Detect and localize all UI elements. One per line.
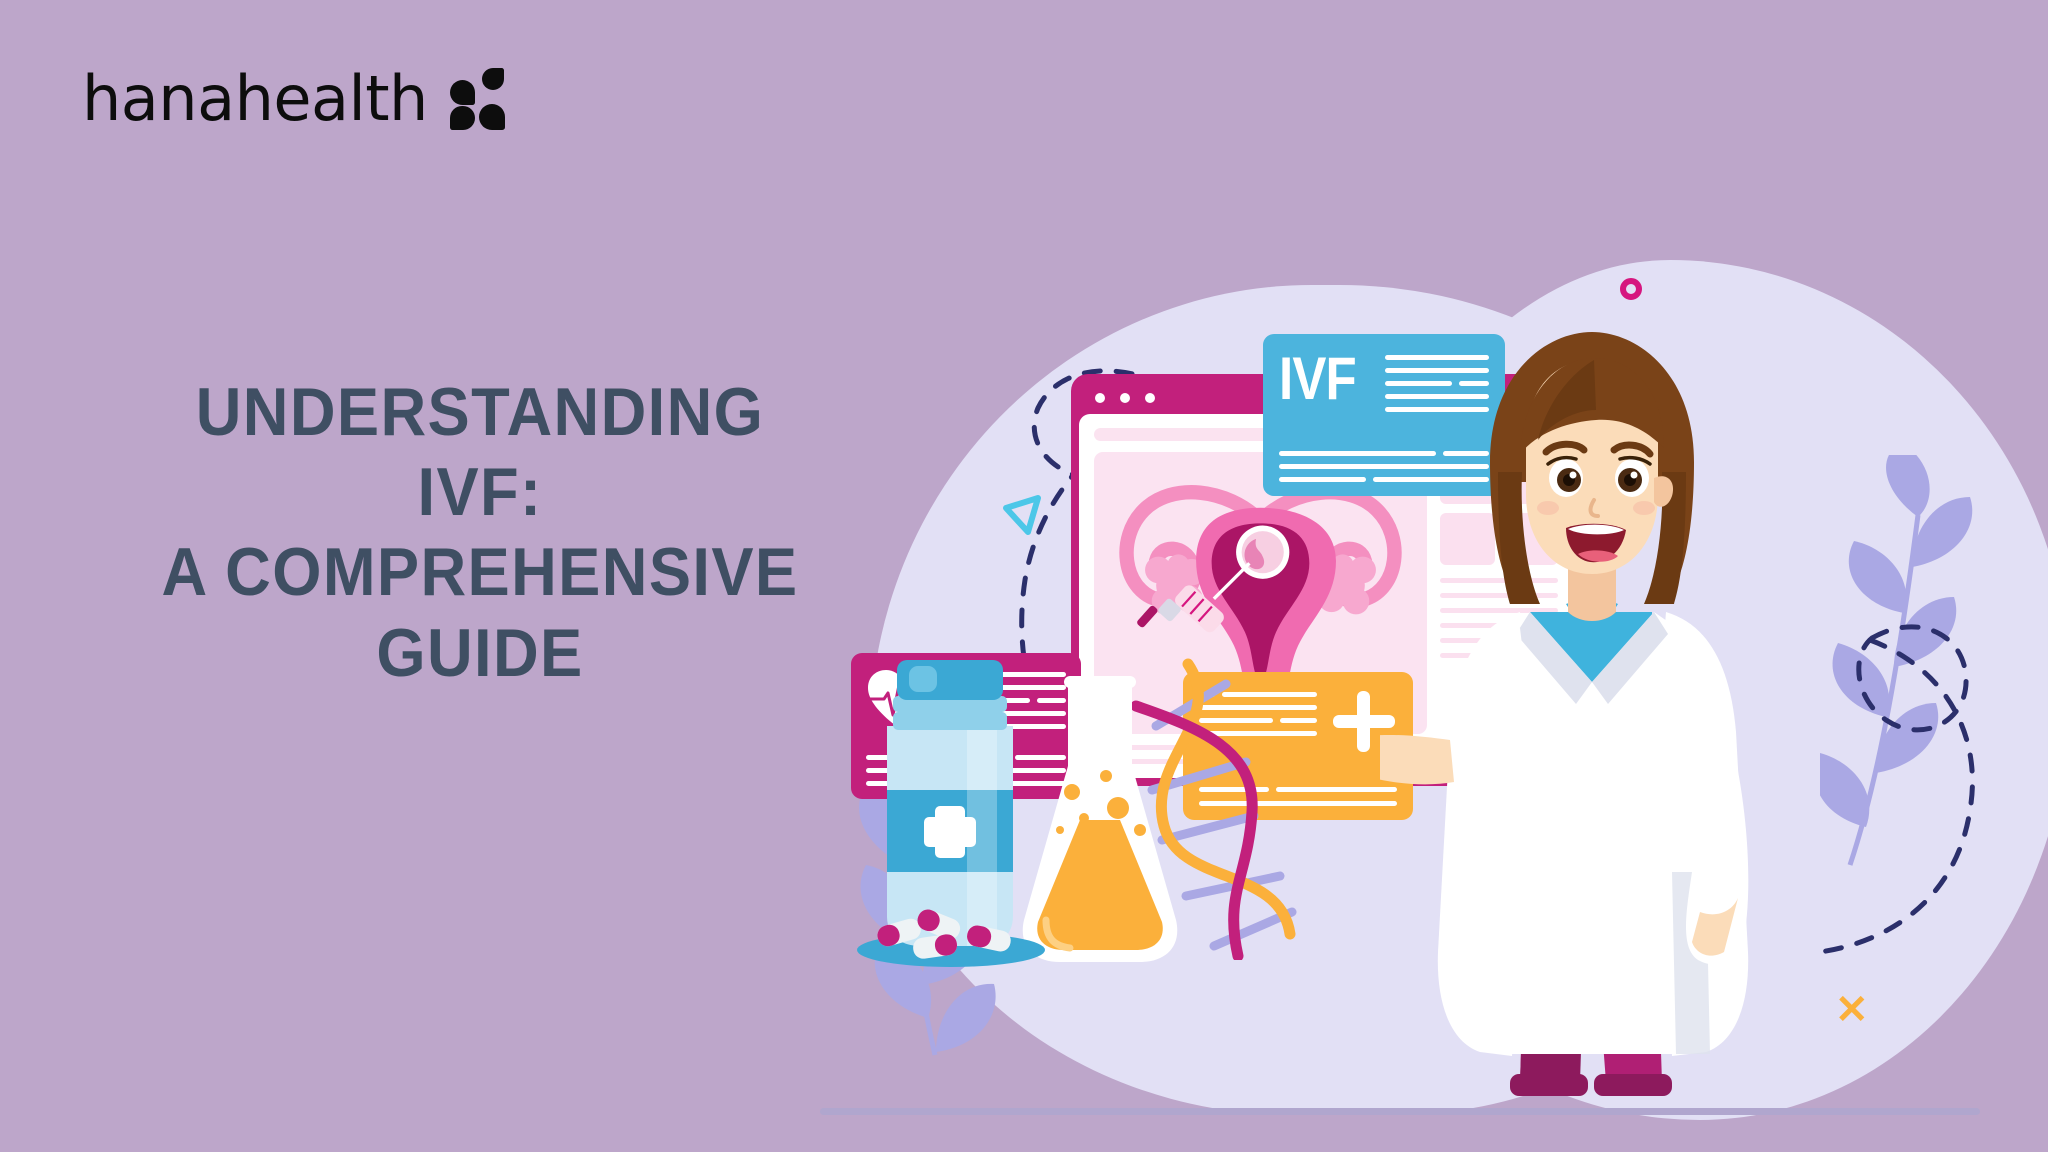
doctor-shoe-right bbox=[1594, 1074, 1672, 1096]
window-dot-minimize[interactable] bbox=[1120, 393, 1130, 403]
x-mark-icon: ✕ bbox=[1835, 990, 1869, 1030]
bottle-svg bbox=[855, 660, 1045, 970]
female-doctor-character bbox=[1380, 312, 1800, 1112]
plus-bar-vertical bbox=[1357, 691, 1370, 752]
headline-line-4: GUIDE bbox=[89, 613, 870, 693]
illustration-scene: ✕ bbox=[860, 240, 2048, 1152]
headline-line-2: IVF: bbox=[89, 452, 870, 532]
brand-logo-text: hanahealth bbox=[82, 68, 428, 130]
window-dot-maximize[interactable] bbox=[1145, 393, 1155, 403]
medicine-bottle bbox=[855, 660, 1045, 970]
petal-bottom-right bbox=[479, 104, 505, 130]
page-title: UNDERSTANDING IVF: A COMPREHENSIVE GUIDE bbox=[89, 372, 870, 693]
ring-decor-icon bbox=[1620, 278, 1642, 300]
poster-canvas: hanahealth UNDERSTANDING IVF: A COMPREHE… bbox=[0, 0, 2048, 1152]
dashed-curve-right bbox=[1820, 640, 1972, 952]
four-petal-mark-icon bbox=[450, 68, 506, 130]
doctor-shoe-left bbox=[1510, 1074, 1588, 1096]
petal-top-right bbox=[482, 68, 504, 90]
headline-line-1: UNDERSTANDING bbox=[89, 372, 870, 452]
petal-top-left bbox=[450, 80, 475, 105]
ivf-card-title: IVF bbox=[1279, 351, 1356, 443]
window-dot-close[interactable] bbox=[1095, 393, 1105, 403]
headline-line-3: A COMPREHENSIVE bbox=[89, 532, 870, 612]
triangle-icon bbox=[1006, 498, 1038, 532]
brand-logo[interactable]: hanahealth bbox=[82, 68, 506, 130]
petal-bottom-left bbox=[450, 106, 475, 130]
doctor-arm-left bbox=[1380, 735, 1454, 784]
ground-line bbox=[820, 1108, 1980, 1115]
text-line bbox=[1279, 477, 1366, 482]
doctor-svg bbox=[1380, 312, 1800, 1112]
